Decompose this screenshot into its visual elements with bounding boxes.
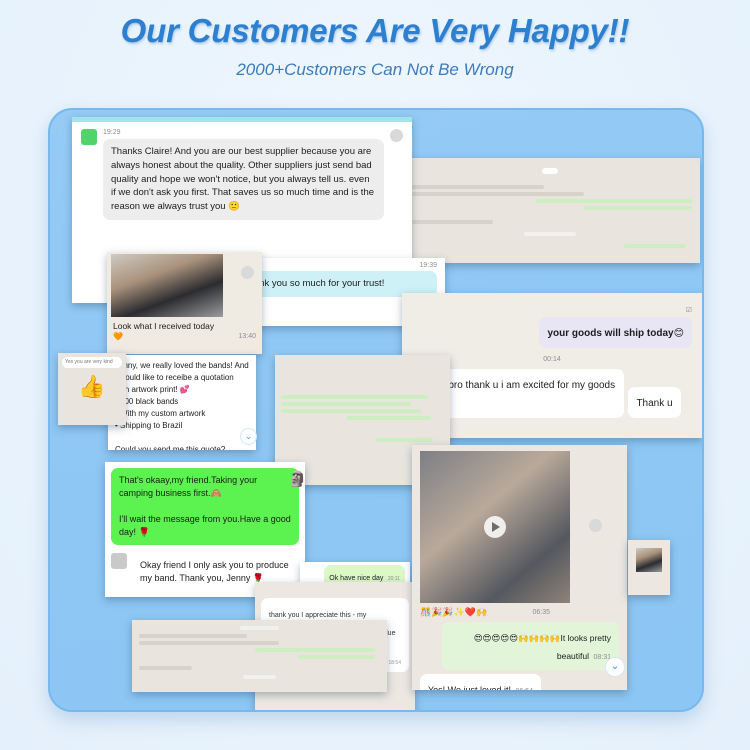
message-timestamp: 19:29 [103, 129, 384, 136]
camping-business-card[interactable]: That's okaay,my friend.Taking your campi… [105, 462, 305, 597]
ship-today-text: your goods will ship today😊 [547, 328, 684, 339]
trust-timestamp: 19:39 [238, 262, 437, 269]
received-today-card[interactable]: Look what I received today 🧡 13:40 [107, 252, 262, 354]
forward-video-icon[interactable] [589, 519, 602, 532]
orange-reaction-icon: 🧡 [113, 332, 123, 341]
page-header: Our Customers Are Very Happy!! 2000+Cust… [0, 0, 750, 80]
page-subtitle: 2000+Customers Can Not Be Wrong [0, 50, 750, 80]
sticker-icon: 🗿 [288, 470, 307, 488]
micro-chat-bottom[interactable] [132, 620, 387, 692]
product-photo[interactable] [111, 254, 223, 317]
video-reactions: 🎊🎉🎉✨❤️🙌 [420, 607, 487, 618]
nice-day-text: Ok have nice day [329, 575, 383, 582]
ship-readmark: ☑ [686, 307, 692, 314]
received-timestamp: 13:40 [238, 333, 256, 340]
testimonial-board: 19:29 Thanks Claire! And you are our bes… [48, 108, 704, 712]
thumbs-up-card[interactable]: Yes you are very kind 👍 [58, 353, 126, 425]
play-icon[interactable] [484, 516, 506, 538]
thumbs-up-icon: 👍 [62, 374, 122, 400]
loved-text: Yes! We just loved it! [428, 685, 511, 690]
main-message-text: Thanks Claire! And you are our best supp… [111, 145, 376, 214]
quotation-request-card[interactable]: Jenny, we really loved the bands! And I … [108, 355, 256, 450]
received-caption: Look what I received today [113, 320, 256, 332]
friend-avatar [111, 553, 127, 569]
page-title: Our Customers Are Very Happy!! [0, 0, 750, 50]
video-timestamp: 06:35 [532, 609, 550, 616]
contact-avatar [81, 129, 97, 145]
watch-video-card[interactable]: 🎊🎉🎉✨❤️🙌 06:35 😍😍😍😍😍🙌🙌🙌🙌It looks pretty b… [412, 445, 627, 690]
ship-reply-two: Thank u [636, 398, 672, 409]
micro-chat-top-right[interactable] [400, 158, 700, 263]
watch-photo[interactable] [420, 451, 570, 603]
quotation-text: Jenny, we really loved the bands! And I … [115, 360, 249, 450]
ship-timestamp: 00:14 [412, 356, 692, 363]
trust-message-text: thank you so much for your trust! [246, 277, 429, 291]
emoji-react-icon[interactable] [390, 129, 403, 142]
forward-icon[interactable] [241, 266, 254, 279]
micro-side-strip[interactable] [628, 540, 670, 595]
scroll-bottom-icon[interactable]: ⌄ [605, 657, 625, 677]
thumbs-caption: Yes you are very kind [65, 359, 119, 366]
scroll-down-icon[interactable]: ⌄ [240, 428, 257, 445]
camping-out-text: That's okaay,my friend.Taking your campi… [119, 474, 291, 539]
loved-timestamp: 06:54 [516, 688, 534, 690]
